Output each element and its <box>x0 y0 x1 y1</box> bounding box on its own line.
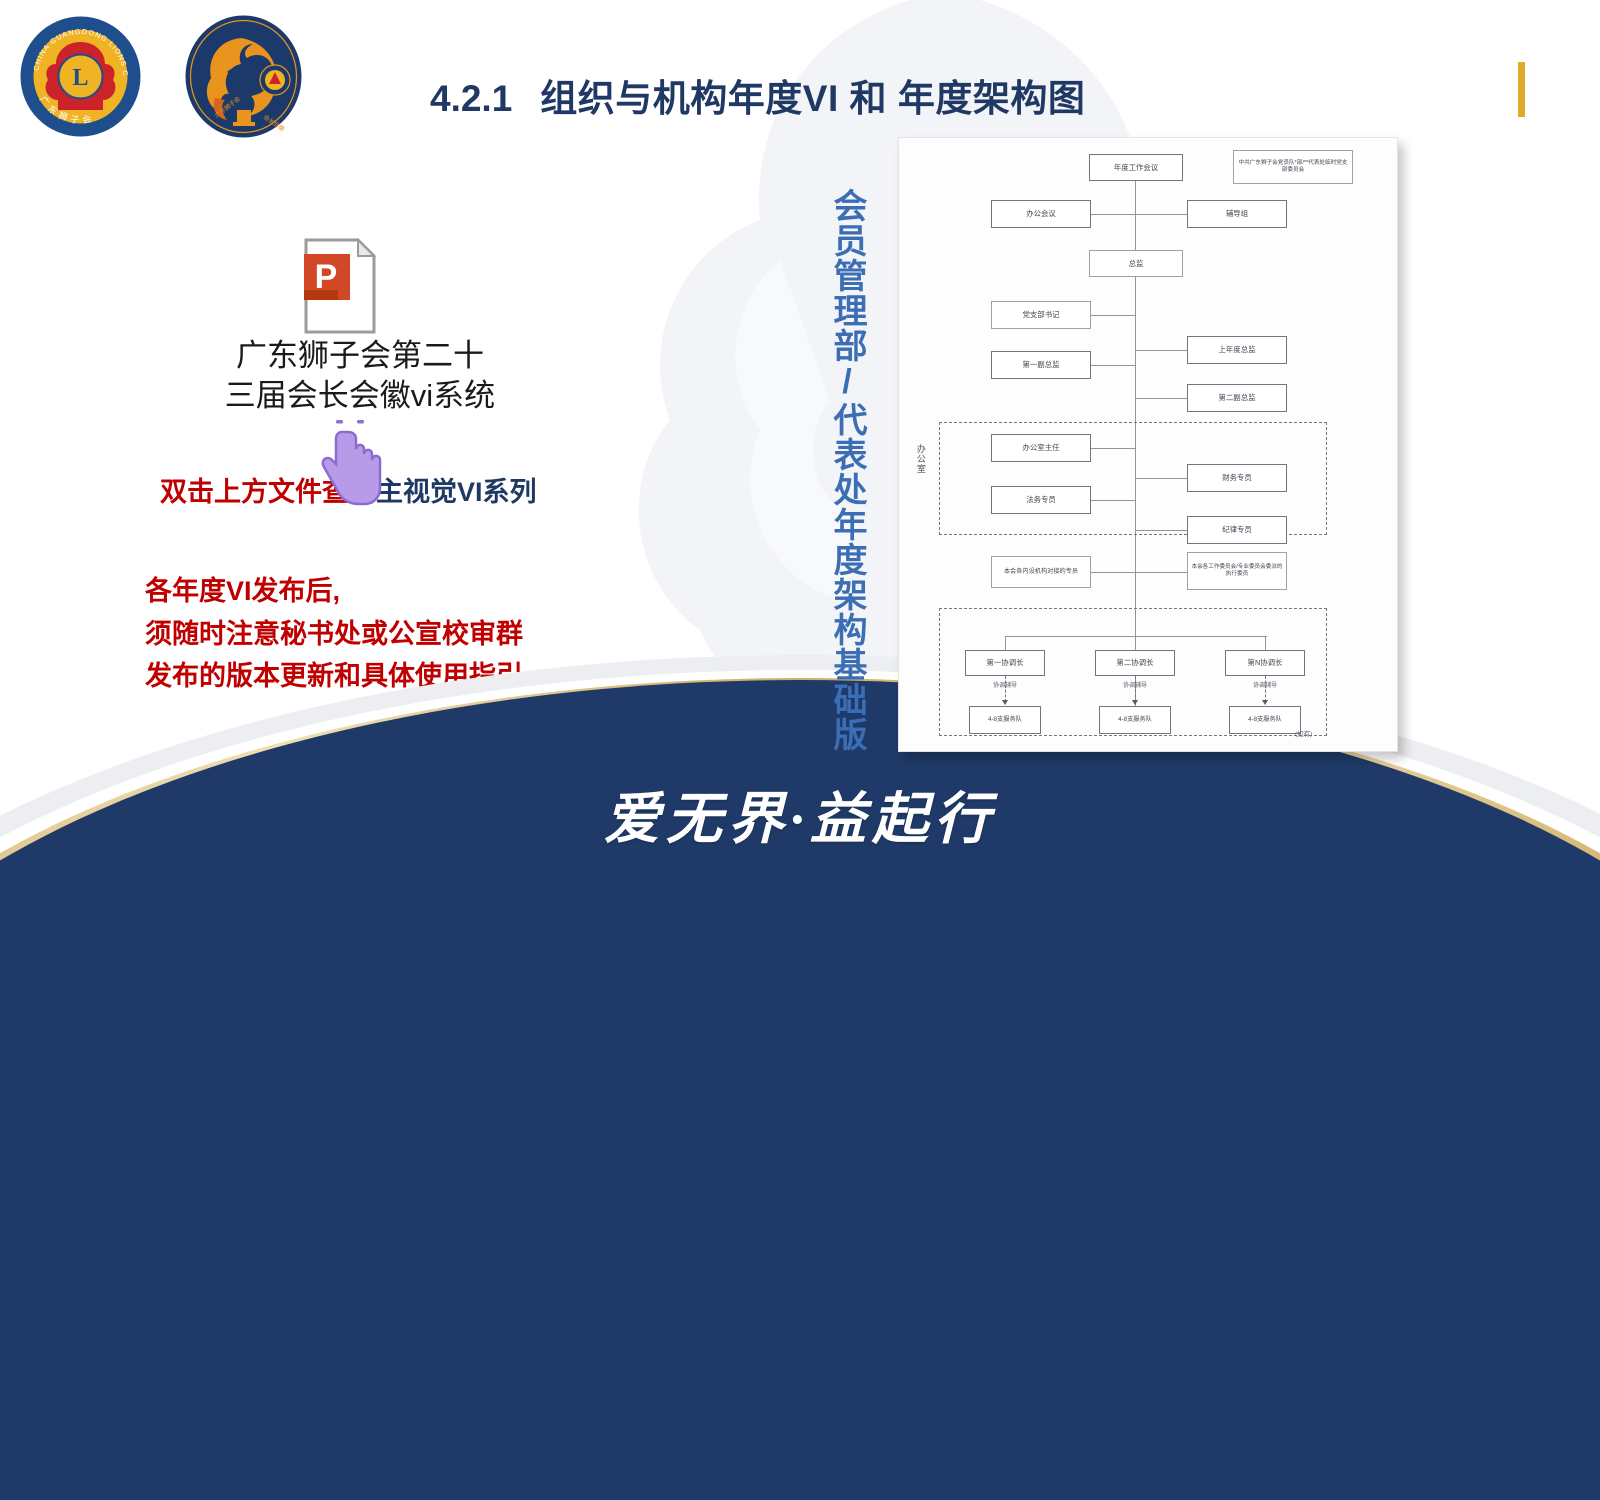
file-caption-line2: 三届会长会徽vi系统 <box>150 376 570 416</box>
node-office-meeting: 办公会议 <box>991 200 1091 228</box>
coach-label-1: 协调辅导 <box>973 680 1037 689</box>
notice-line-2: 须随时注意秘书处或公宣校审群 <box>145 613 550 656</box>
node-coordinator-2: 第二协调长 <box>1095 650 1175 676</box>
node-liaison-officer: 本会各内设机构对接的专员 <box>991 556 1091 588</box>
node-first-vice-director: 第一副总监 <box>991 351 1091 379</box>
vertical-caption: 会员管理部/代表处年度架构基础版 <box>818 188 864 752</box>
node-party-branch: 中共广东狮子会党员队*部/**代表处临时党支部委员会 <box>1233 150 1353 184</box>
coordinator-drop-3 <box>1265 636 1266 650</box>
file-caption-line1: 广东狮子会第二十 <box>150 336 570 376</box>
logo-row: L CHINA GUANGDONG LIONS CLUBS 广东狮子会 <box>18 14 306 139</box>
connector-first-vice-director <box>1091 365 1135 366</box>
node-legal-officer: 法务专员 <box>991 486 1091 514</box>
svg-text:L: L <box>72 65 88 91</box>
hand-pointer-cursor <box>316 418 388 514</box>
node-service-teams-3: 4-8支服务队 <box>1229 706 1301 734</box>
connector-legal-officer <box>1091 500 1135 501</box>
org-chart-card[interactable]: 年度工作会议 中共广东狮子会党员队*部/**代表处临时党支部委员会 办公会议 辅… <box>898 137 1398 752</box>
coordinator-drop-2 <box>1135 636 1136 650</box>
hint-blue-text: 主视觉VI系列 <box>376 477 537 507</box>
page-title: 4.2.1组织与机构年度VI 和 年度架构图 <box>430 68 1085 122</box>
notice-line-1: 各年度VI发布后, <box>145 570 550 613</box>
connector-office-chief <box>1091 448 1135 449</box>
connector-committee-exec <box>1135 572 1187 573</box>
guangdong-lions-club-emblem: L CHINA GUANGDONG LIONS CLUBS 广东狮子会 <box>18 14 143 139</box>
connector-second-vice-director <box>1135 398 1187 399</box>
connector-last-year-director <box>1135 350 1187 351</box>
node-discipline-officer: 纪律专员 <box>1187 516 1287 544</box>
chart-corner-note: (如有) <box>1295 728 1312 738</box>
connector-party-secretary <box>1091 315 1135 316</box>
org-chart-diagram: 年度工作会议 中共广东狮子会党员队*部/**代表处临时党支部委员会 办公会议 辅… <box>899 138 1398 752</box>
office-region-label: 办公室 <box>915 444 925 474</box>
coordinator-drop-1 <box>1005 636 1006 650</box>
node-last-year-director: 上年度总监 <box>1187 336 1287 364</box>
powerpoint-file-icon[interactable]: P <box>302 238 378 334</box>
node-finance-officer: 财务专员 <box>1187 464 1287 492</box>
node-office-chief: 办公室主任 <box>991 434 1091 462</box>
node-coordinator-1: 第一协调长 <box>965 650 1045 676</box>
lion-head-emblem: 广东狮子会 会长会徽 <box>181 14 306 139</box>
connector-finance-officer <box>1135 478 1187 479</box>
title-number: 4.2.1 <box>430 78 512 119</box>
coach-label-2: 协调辅导 <box>1103 680 1167 689</box>
node-advisory-group: 辅导组 <box>1187 200 1287 228</box>
svg-text:P: P <box>315 258 338 296</box>
title-text: 组织与机构年度VI 和 年度架构图 <box>540 78 1085 119</box>
file-caption: 广东狮子会第二十 三届会长会徽vi系统 <box>150 336 570 415</box>
node-service-teams-2: 4-8支服务队 <box>1099 706 1171 734</box>
coach-arrow-3 <box>1262 700 1268 705</box>
node-annual-meeting: 年度工作会议 <box>1089 154 1183 181</box>
coach-arrow-2 <box>1132 700 1138 705</box>
coach-label-3: 协调辅导 <box>1233 680 1297 689</box>
footer-slogan: 爱无界·益起行 <box>0 774 1600 855</box>
node-service-teams-1: 4-8支服务队 <box>969 706 1041 734</box>
gold-accent-bar <box>1518 62 1525 117</box>
node-director: 总监 <box>1089 250 1183 277</box>
node-second-vice-director: 第二副总监 <box>1187 384 1287 412</box>
node-committee-exec: 本会各工作委员会/专业委员会委派的执行委员 <box>1187 552 1287 590</box>
connector-office-meeting <box>1091 214 1135 215</box>
node-party-secretary: 党支部书记 <box>991 301 1091 329</box>
connector-discipline-officer <box>1135 530 1187 531</box>
connector-liaison-officer <box>1091 572 1135 573</box>
node-coordinator-n: 第N协调长 <box>1225 650 1305 676</box>
coach-arrow-1 <box>1002 700 1008 705</box>
connector-advisory-group <box>1135 214 1187 215</box>
